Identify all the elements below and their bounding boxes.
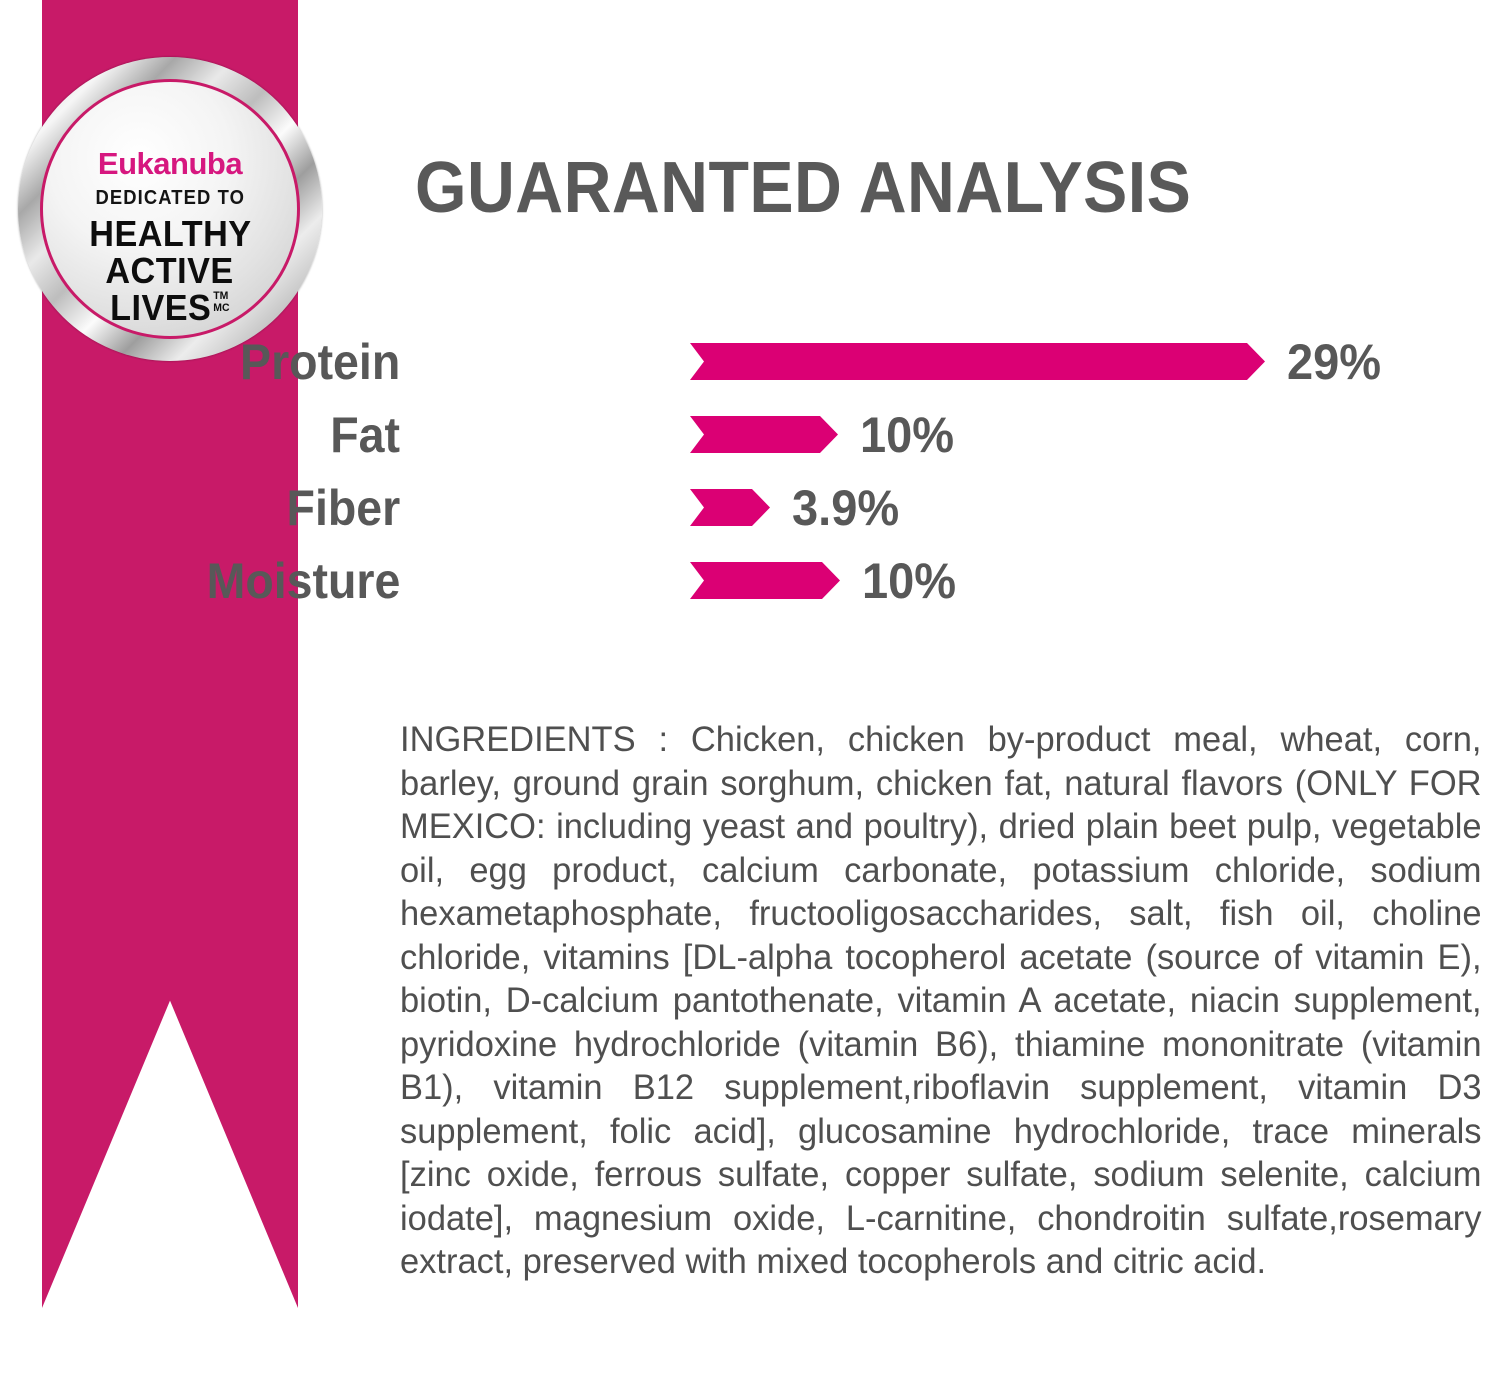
badge-tagline-lives-row: LIVES TM MC xyxy=(110,289,229,326)
nutrition-panel-page: Eukanuba DEDICATED TO HEALTHY ACTIVE LIV… xyxy=(0,0,1500,1395)
badge-tagline-lives: LIVES xyxy=(110,289,211,326)
analysis-bar-protein xyxy=(690,343,1265,380)
brand-seal-badge: Eukanuba DEDICATED TO HEALTHY ACTIVE LIV… xyxy=(18,57,322,361)
analysis-value-fiber: 3.9% xyxy=(792,483,899,533)
analysis-label-moisture: Moisture xyxy=(206,556,400,606)
analysis-label-fiber: Fiber xyxy=(286,483,400,533)
analysis-value-moisture: 10% xyxy=(862,556,956,606)
analysis-bar-fat xyxy=(690,416,838,453)
badge-tagline-active: ACTIVE xyxy=(106,252,234,289)
analysis-bar-fiber xyxy=(690,489,770,526)
badge-tagline-healthy: HEALTHY xyxy=(89,215,251,252)
analysis-row-fiber: Fiber 3.9% xyxy=(400,471,1480,544)
analysis-row-moisture: Moisture 10% xyxy=(400,544,1480,617)
badge-inner-ring: Eukanuba DEDICATED TO HEALTHY ACTIVE LIV… xyxy=(40,79,300,339)
analysis-label-fat: Fat xyxy=(330,410,400,460)
page-title: GUARANTED ANALYSIS xyxy=(415,152,1191,224)
trademark-marks: TM MC xyxy=(213,291,229,314)
analysis-value-fat: 10% xyxy=(860,410,954,460)
analysis-row-protein: Protein 29% xyxy=(400,325,1480,398)
badge-tagline-dedicated-to: DEDICATED TO xyxy=(95,188,245,208)
analysis-label-protein: Protein xyxy=(240,337,400,387)
guaranteed-analysis-chart: Protein 29% Fat 10% Fiber 3.9% Moisture xyxy=(400,325,1480,617)
analysis-value-protein: 29% xyxy=(1287,337,1381,387)
trademark-mc-icon: MC xyxy=(213,303,229,315)
trademark-tm-icon: TM xyxy=(213,291,228,303)
analysis-row-fat: Fat 10% xyxy=(400,398,1480,471)
analysis-bar-moisture xyxy=(690,562,840,599)
ingredients-text: INGREDIENTS : Chicken, chicken by-produc… xyxy=(400,718,1482,1284)
brand-name-eukanuba: Eukanuba xyxy=(98,148,242,179)
